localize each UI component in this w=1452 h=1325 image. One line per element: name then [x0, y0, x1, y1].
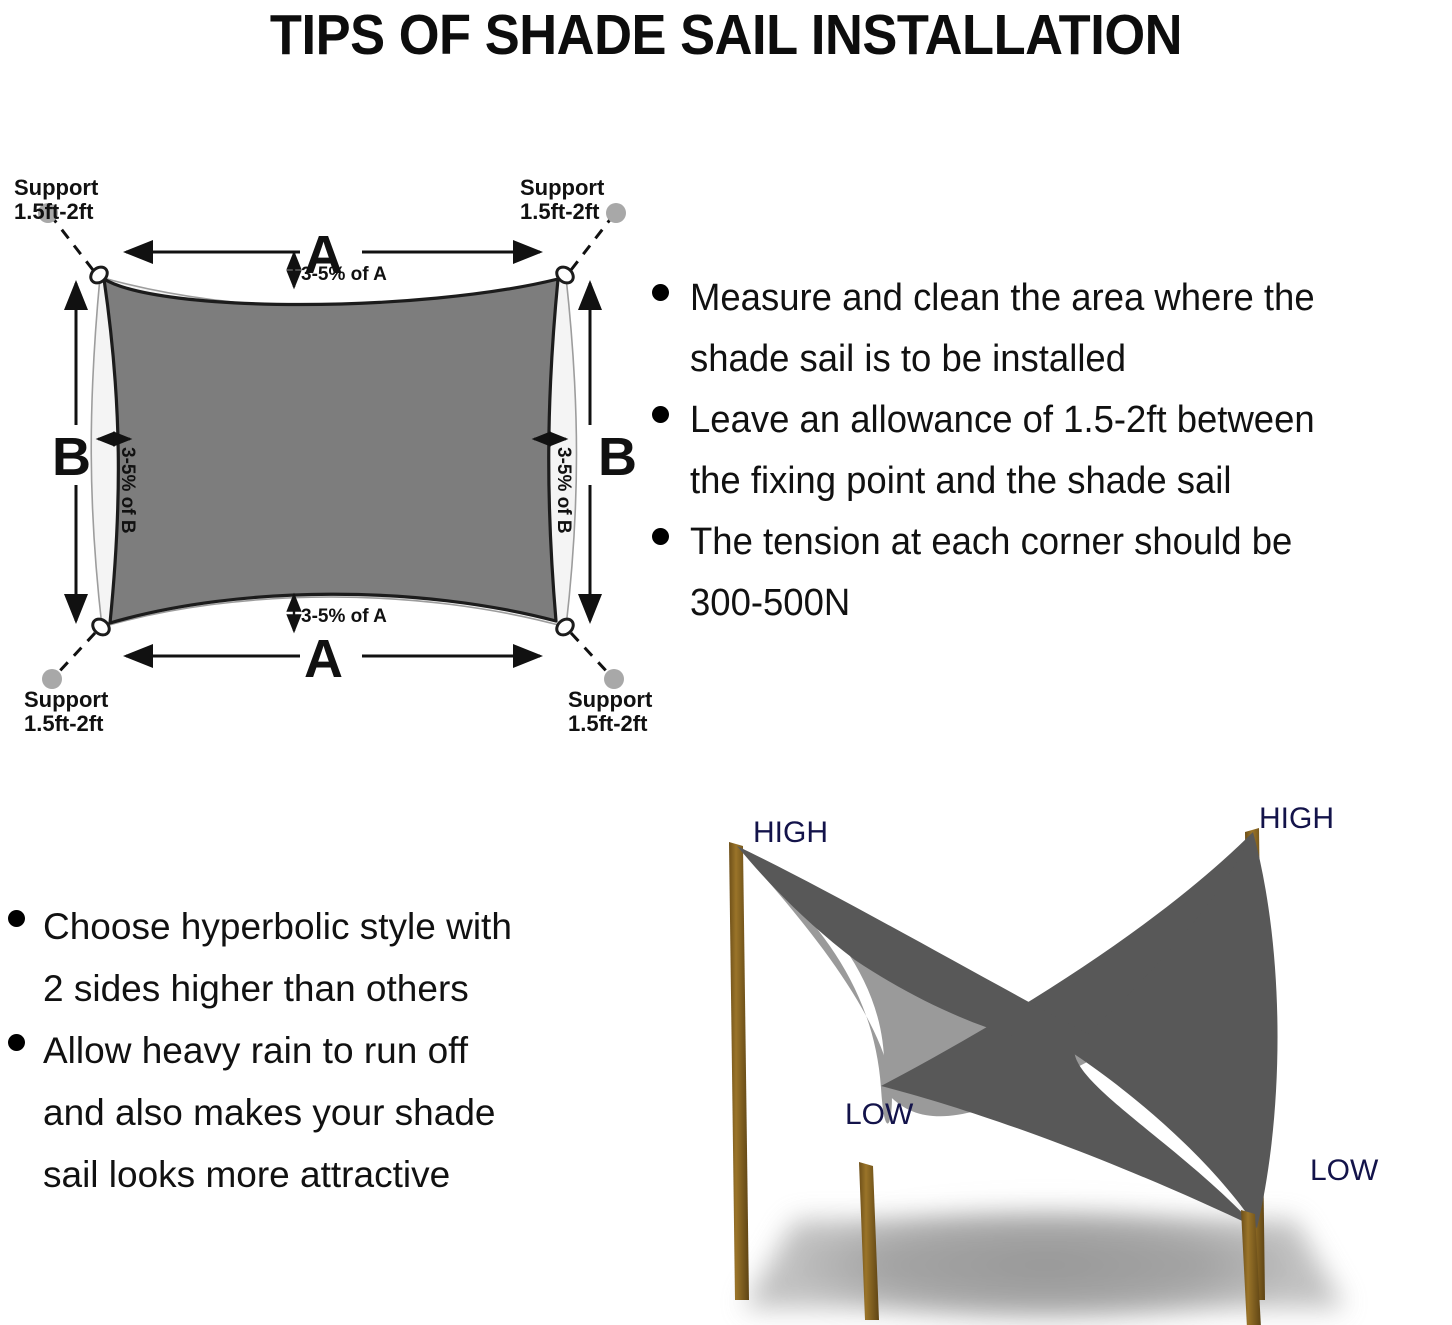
- support-label-top-left: Support 1.5ft-2ft: [14, 175, 99, 224]
- curvature-label-bottom: 3-5% of A: [301, 606, 387, 627]
- anchor-dot-bottom-left: [42, 669, 62, 689]
- shade-sail-installation-infographic: TIPS OF SHADE SAIL INSTALLATION: [0, 0, 1452, 1325]
- list-item: Allow heavy rain to run off and also mak…: [0, 1020, 620, 1206]
- anchor-dot-top-right: [606, 203, 626, 223]
- tip-text: The tension at each corner should be 300…: [690, 512, 1422, 634]
- support-label-top-right: Support 1.5ft-2ft: [520, 175, 605, 224]
- dimension-label-A-bottom: A: [304, 629, 343, 689]
- support-label-line2: 1.5ft-2ft: [14, 199, 94, 224]
- support-label-line1: Support: [520, 175, 605, 200]
- support-label-bottom-right: Support 1.5ft-2ft: [568, 687, 653, 736]
- support-label-bottom-left: Support 1.5ft-2ft: [24, 687, 109, 736]
- hyperbolic-sail-illustration: HIGH HIGH LOW LOW: [645, 780, 1452, 1325]
- support-label-line1: Support: [14, 175, 99, 200]
- dimension-bottom-width: A: [126, 629, 540, 689]
- label-low-left: LOW: [845, 1098, 914, 1131]
- support-label-line1: Support: [24, 687, 109, 712]
- label-high-right: HIGH: [1259, 802, 1334, 835]
- bullet-icon: [652, 528, 669, 545]
- tip-text: Choose hyperbolic style with 2 sides hig…: [43, 896, 620, 1020]
- dimension-right-height: B: [590, 283, 637, 621]
- list-item: The tension at each corner should be 300…: [652, 512, 1452, 634]
- rectangular-sail-diagram: Support 1.5ft-2ft Support 1.5ft-2ft Supp…: [0, 155, 660, 755]
- dimension-left-height: B: [52, 283, 91, 621]
- list-item: Choose hyperbolic style with 2 sides hig…: [0, 896, 620, 1020]
- curvature-label-right: 3-5% of B: [553, 447, 574, 534]
- tip-text: Measure and clean the area where the sha…: [690, 268, 1422, 390]
- sail-fabric: [104, 279, 558, 623]
- list-item: Measure and clean the area where the sha…: [652, 268, 1452, 390]
- curvature-label-top: 3-5% of A: [301, 264, 387, 285]
- post-high-left: [729, 842, 749, 1300]
- bullet-icon: [8, 910, 25, 927]
- bullet-icon: [652, 406, 669, 423]
- support-label-line2: 1.5ft-2ft: [24, 711, 104, 736]
- tip-text: Allow heavy rain to run off and also mak…: [43, 1020, 620, 1206]
- anchor-dot-bottom-right: [604, 669, 624, 689]
- installation-tips-list: Measure and clean the area where the sha…: [652, 268, 1452, 634]
- tip-text: Leave an allowance of 1.5-2ft between th…: [690, 390, 1422, 512]
- label-high-left: HIGH: [753, 816, 828, 849]
- dimension-label-B-right: B: [598, 427, 637, 487]
- support-label-line1: Support: [568, 687, 653, 712]
- support-label-line2: 1.5ft-2ft: [568, 711, 648, 736]
- dimension-label-B-left: B: [52, 427, 91, 487]
- bullet-icon: [8, 1034, 25, 1051]
- curvature-note-bottom: 3-5% of A: [294, 595, 387, 631]
- curvature-label-left: 3-5% of B: [117, 447, 138, 534]
- bullet-icon: [652, 284, 669, 301]
- label-low-right: LOW: [1310, 1154, 1379, 1187]
- list-item: Leave an allowance of 1.5-2ft between th…: [652, 390, 1452, 512]
- support-label-line2: 1.5ft-2ft: [520, 199, 600, 224]
- hyperbolic-style-tips-list: Choose hyperbolic style with 2 sides hig…: [0, 896, 620, 1206]
- page-title: TIPS OF SHADE SAIL INSTALLATION: [58, 2, 1394, 68]
